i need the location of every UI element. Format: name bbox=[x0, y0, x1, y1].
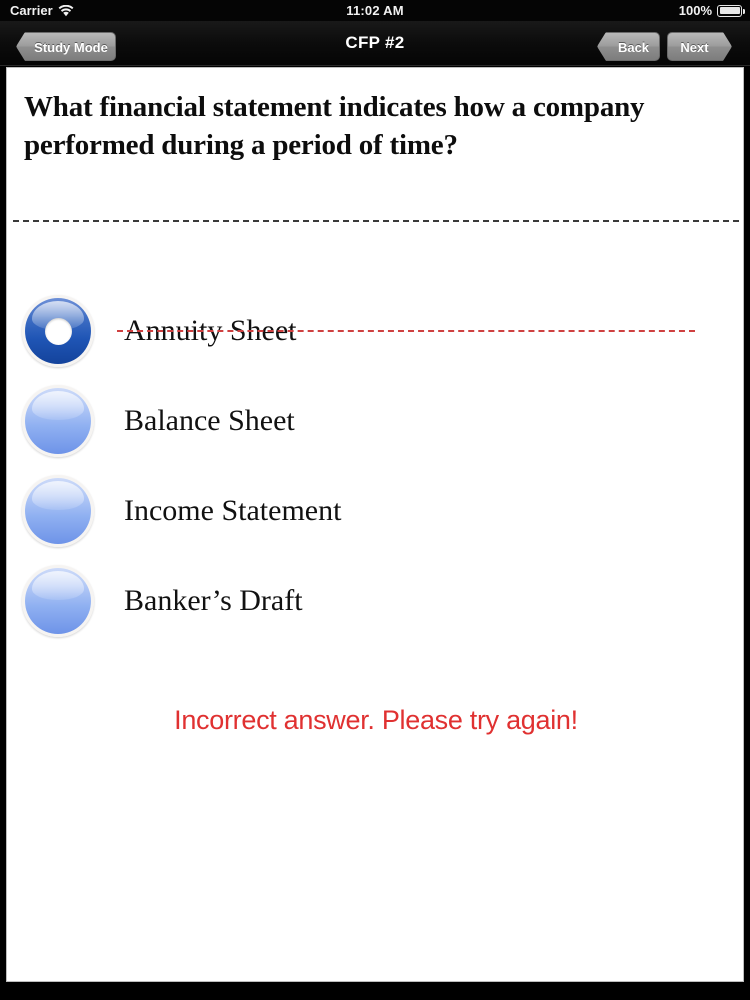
battery-fill bbox=[720, 7, 740, 14]
status-bar-clock: 11:02 AM bbox=[0, 0, 750, 21]
status-bar: Carrier 11:02 AM 100% bbox=[0, 0, 750, 21]
answer-option-label: Income Statement bbox=[124, 494, 341, 528]
study-mode-button[interactable]: Study Mode bbox=[16, 32, 116, 61]
question-separator bbox=[13, 220, 739, 222]
status-bar-battery-group: 100% bbox=[679, 0, 742, 21]
app-window: Carrier 11:02 AM 100% CFP #2 Study Mode … bbox=[0, 0, 750, 1000]
back-button[interactable]: Back bbox=[597, 32, 660, 61]
feedback-message: Incorrect answer. Please try again! bbox=[7, 705, 744, 736]
answer-option-row[interactable]: Income Statement bbox=[7, 466, 744, 556]
next-button[interactable]: Next bbox=[667, 32, 732, 61]
answer-option-label: Banker’s Draft bbox=[124, 584, 303, 618]
quiz-card: What financial statement indicates how a… bbox=[6, 67, 744, 982]
navigation-bar: CFP #2 Study Mode Back Next bbox=[0, 21, 750, 66]
radio-ball bbox=[25, 478, 91, 544]
radio-button-unselected[interactable] bbox=[22, 475, 94, 547]
answer-option-row[interactable]: Balance Sheet bbox=[7, 376, 744, 466]
radio-button-unselected[interactable] bbox=[22, 565, 94, 637]
answer-option-label: Annuity Sheet bbox=[124, 314, 297, 348]
radio-ball bbox=[25, 388, 91, 454]
radio-button-selected[interactable] bbox=[22, 295, 94, 367]
battery-percent-label: 100% bbox=[679, 0, 712, 21]
radio-selected-dot bbox=[45, 318, 72, 345]
question-text: What financial statement indicates how a… bbox=[24, 88, 714, 164]
answer-options-list: Annuity Sheet Balance Sheet I bbox=[7, 286, 744, 646]
answer-option-row[interactable]: Annuity Sheet bbox=[7, 286, 744, 376]
answer-option-row[interactable]: Banker’s Draft bbox=[7, 556, 744, 646]
radio-ball bbox=[25, 568, 91, 634]
radio-button-unselected[interactable] bbox=[22, 385, 94, 457]
battery-full-icon bbox=[717, 5, 742, 17]
answer-option-label: Balance Sheet bbox=[124, 404, 295, 438]
